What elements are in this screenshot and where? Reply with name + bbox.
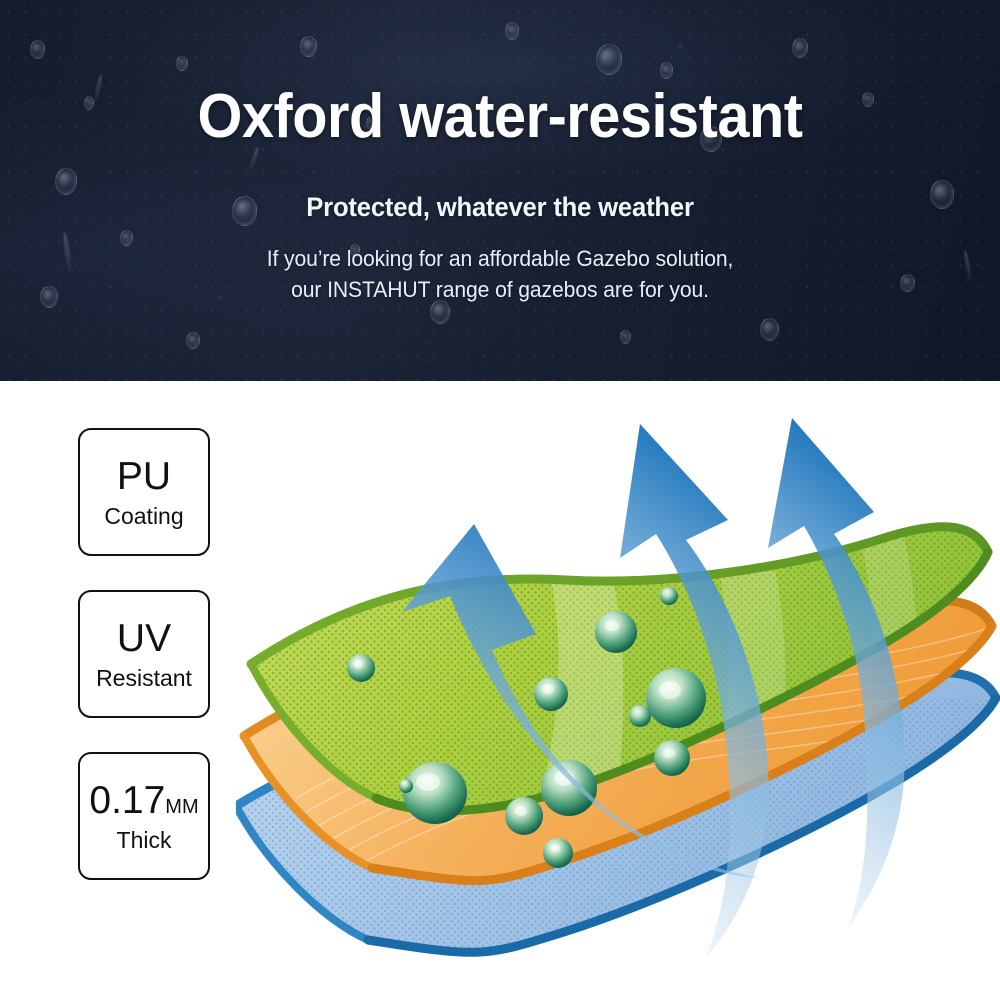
water-droplet [186,332,200,349]
page-title: Oxford water-resistant [35,84,965,149]
water-droplet [300,36,317,57]
water-droplet [30,40,45,59]
badge-uv-resistant: UV Resistant [78,590,210,718]
body-line-1: If you’re looking for an affordable Gaze… [267,246,734,271]
badge-pu-value: PU [117,457,171,496]
page-subtitle: Protected, whatever the weather [25,192,975,223]
water-droplet [505,797,543,835]
water-droplet [760,318,779,341]
water-droplet [543,838,573,868]
water-droplet [654,740,690,776]
water-droplet [347,654,375,682]
thickness-unit: MM [165,796,198,818]
hero-section: Oxford water-resistant Protected, whatev… [0,0,1000,381]
water-droplet [646,668,706,728]
water-droplet [596,44,622,75]
water-droplet [595,611,637,653]
three-layer-fabric-diagram [236,398,1000,964]
hero-sheen [0,0,1000,381]
badge-pu-label: Coating [104,505,183,528]
body-line-2: our INSTAHUT range of gazebos are for yo… [291,277,709,302]
water-droplet [660,62,673,79]
water-droplet [534,677,568,711]
water-droplet [620,330,631,344]
water-droplet [55,168,77,195]
thickness-number: 0.17 [89,779,165,822]
badge-uv-value: UV [117,619,171,658]
badge-thickness-label: Thick [117,829,172,852]
water-droplet [505,22,519,40]
water-droplet [541,760,597,816]
water-droplet [660,587,678,605]
water-droplet [792,38,808,58]
feature-badge-list: PU Coating UV Resistant 0.17MM Thick [78,428,210,880]
promo-banner: Oxford water-resistant Protected, whatev… [0,0,1000,1000]
badge-thickness-value: 0.17MM [89,781,198,820]
water-droplet [399,779,413,793]
water-droplet [629,705,651,727]
water-droplet [403,762,467,824]
page-body-text: If you’re looking for an affordable Gaze… [20,243,980,305]
badge-uv-label: Resistant [96,667,192,690]
badge-thickness: 0.17MM Thick [78,752,210,880]
water-droplet [176,56,188,71]
badge-pu-coating: PU Coating [78,428,210,556]
